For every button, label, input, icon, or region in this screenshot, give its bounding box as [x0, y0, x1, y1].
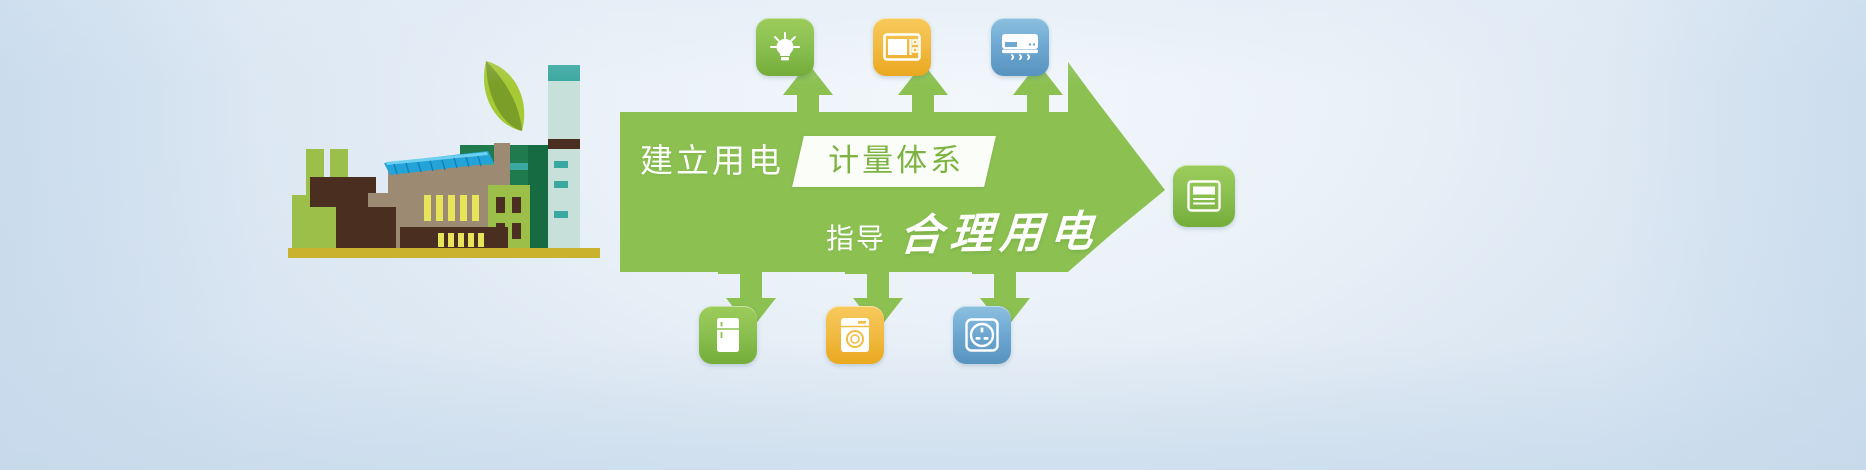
- light-bulb-icon[interactable]: 照明: [756, 18, 814, 76]
- energy-awareness-banner: 照明 微波炉 空调: [0, 0, 1866, 470]
- lower-band: [400, 227, 508, 251]
- smokestack: [548, 65, 580, 250]
- factory-illustration: [280, 45, 620, 285]
- main-arrow-shape: [620, 62, 1162, 272]
- ground-strip: [288, 248, 600, 258]
- microwave-icon[interactable]: 微波炉: [873, 18, 931, 76]
- air-conditioner-icon[interactable]: 空调: [991, 18, 1049, 76]
- washing-machine-icon[interactable]: 洗衣机: [826, 306, 884, 364]
- leaf-icon: [484, 61, 524, 131]
- electricity-meter-icon[interactable]: 电表: [1173, 165, 1235, 227]
- power-socket-icon[interactable]: 插座: [953, 306, 1011, 364]
- refrigerator-icon[interactable]: 冰箱: [699, 306, 757, 364]
